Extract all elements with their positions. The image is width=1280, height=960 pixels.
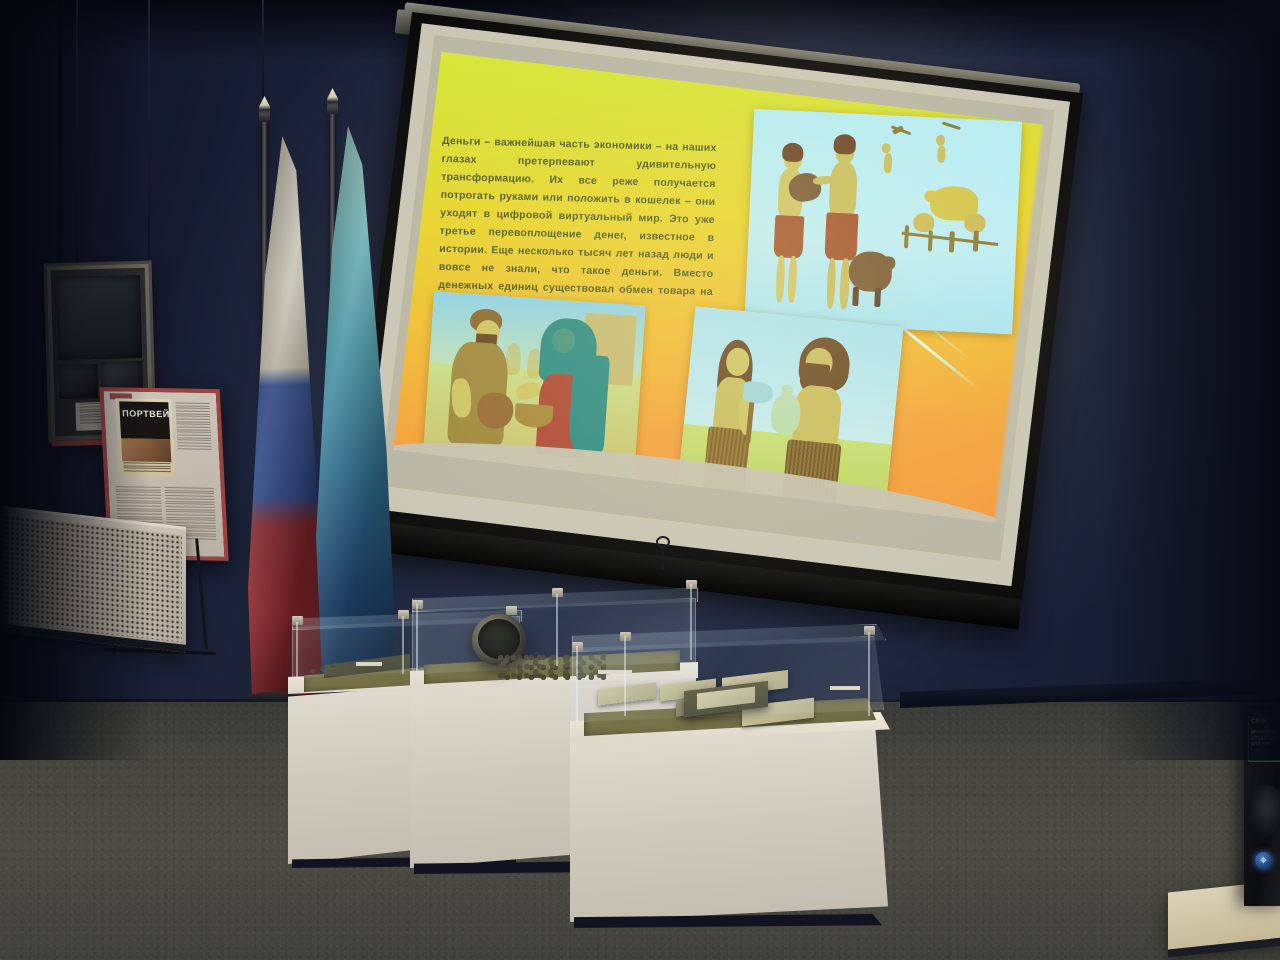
museum-hall-photo: Деньги – важнейшая часть экономики – на … (0, 0, 1280, 960)
left-corner-shadow (0, 0, 150, 760)
right-corner-shadow (1100, 0, 1280, 760)
ambient-light-vignette (0, 0, 1280, 960)
